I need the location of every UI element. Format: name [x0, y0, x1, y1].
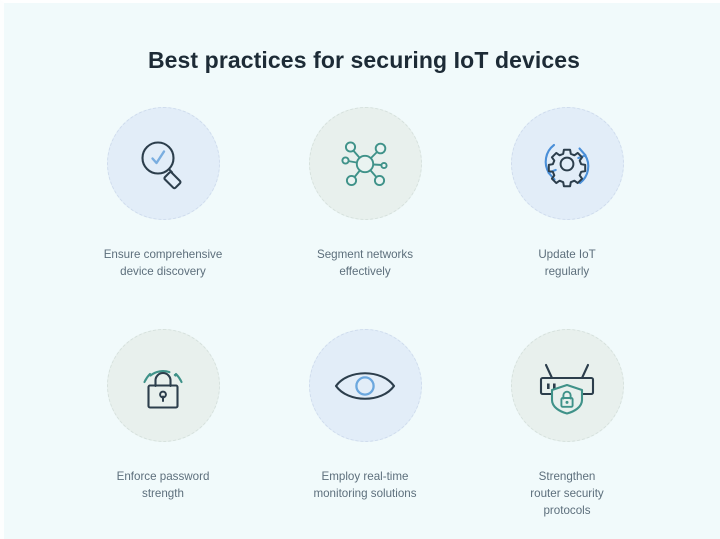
practice-card-router-security: Strengthen router security protocols	[466, 329, 668, 519]
icon-badge-network-segmentation	[309, 107, 422, 220]
page-title: Best practices for securing IoT devices	[4, 47, 720, 74]
icon-badge-password-strength	[107, 329, 220, 442]
caption-line: regularly	[538, 263, 595, 280]
practice-card-password-strength: Enforce password strength	[62, 329, 264, 519]
caption-line: Segment networks	[317, 246, 413, 263]
icon-badge-router-security	[511, 329, 624, 442]
icon-badge-device-discovery	[107, 107, 220, 220]
padlock-signal-icon	[132, 355, 194, 417]
practice-caption-network-segmentation: Segment networks effectively	[317, 246, 413, 280]
magnifier-check-icon	[133, 134, 193, 194]
gear-refresh-icon	[536, 133, 598, 195]
caption-line: protocols	[530, 502, 603, 519]
caption-line: Employ real-time	[313, 468, 416, 485]
caption-line: device discovery	[104, 263, 223, 280]
caption-line: Enforce password	[117, 468, 210, 485]
caption-line: monitoring solutions	[313, 485, 416, 502]
practice-card-device-discovery: Ensure comprehensive device discovery	[62, 107, 264, 280]
caption-line: router security	[530, 485, 603, 502]
practices-row-top: Ensure comprehensive device discovery	[62, 107, 668, 280]
caption-line: Ensure comprehensive	[104, 246, 223, 263]
infographic-canvas: Best practices for securing IoT devices …	[0, 0, 720, 539]
practice-card-network-segmentation: Segment networks effectively	[264, 107, 466, 280]
caption-line: Strengthen	[530, 468, 603, 485]
practice-caption-password-strength: Enforce password strength	[117, 468, 210, 502]
practice-caption-router-security: Strengthen router security protocols	[530, 468, 603, 519]
caption-line: strength	[117, 485, 210, 502]
practice-caption-real-time-monitoring: Employ real-time monitoring solutions	[313, 468, 416, 502]
router-shield-lock-icon	[535, 357, 599, 415]
caption-line: Update IoT	[538, 246, 595, 263]
caption-line: effectively	[317, 263, 413, 280]
eye-icon	[332, 361, 398, 411]
practice-caption-device-discovery: Ensure comprehensive device discovery	[104, 246, 223, 280]
practice-card-real-time-monitoring: Employ real-time monitoring solutions	[264, 329, 466, 519]
practice-card-iot-updates: Update IoT regularly	[466, 107, 668, 280]
network-hub-icon	[335, 134, 395, 194]
practices-row-bottom: Enforce password strength Employ real-ti…	[62, 304, 668, 519]
practice-caption-iot-updates: Update IoT regularly	[538, 246, 595, 280]
icon-badge-real-time-monitoring	[309, 329, 422, 442]
icon-badge-iot-updates	[511, 107, 624, 220]
